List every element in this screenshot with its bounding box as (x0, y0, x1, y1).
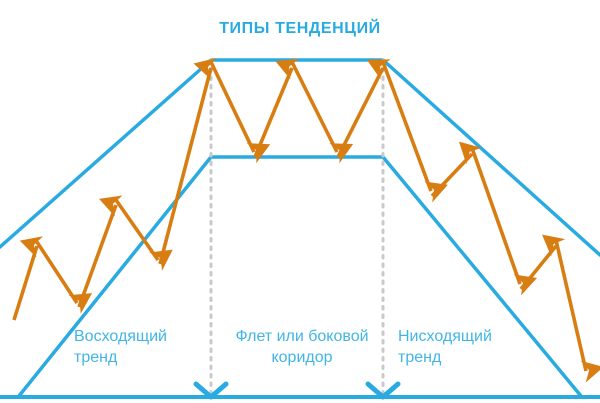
page-title: ТИПЫ ТЕНДЕНЦИЙ (0, 20, 600, 38)
zone-label-flat: Флет или боковой коридор (218, 326, 386, 368)
price-leg-down-1 (37, 242, 77, 303)
price-leg-dn-up-2 (521, 246, 556, 289)
zone-label-uptrend: Восходящий тренд (74, 326, 204, 368)
price-leg-up-2 (79, 205, 116, 307)
price-action-flat-group (211, 62, 383, 157)
price-leg-flat-up-2 (338, 68, 383, 157)
zone-label-downtrend: Нисходящий тренд (398, 326, 538, 368)
price-leg-dn-down-2 (472, 148, 520, 284)
price-leg-up-1 (14, 246, 37, 320)
price-leg-dn-up-1 (432, 154, 472, 196)
price-leg-flat-down-2 (292, 62, 337, 152)
trend-diagram-stage: ТИПЫ ТЕНДЕНЦИЙ Восходящий тренд Флет или… (0, 0, 600, 403)
price-leg-flat-up-1 (255, 68, 292, 157)
price-leg-flat-down-1 (211, 62, 254, 152)
price-leg-dn-down-3 (556, 240, 586, 371)
